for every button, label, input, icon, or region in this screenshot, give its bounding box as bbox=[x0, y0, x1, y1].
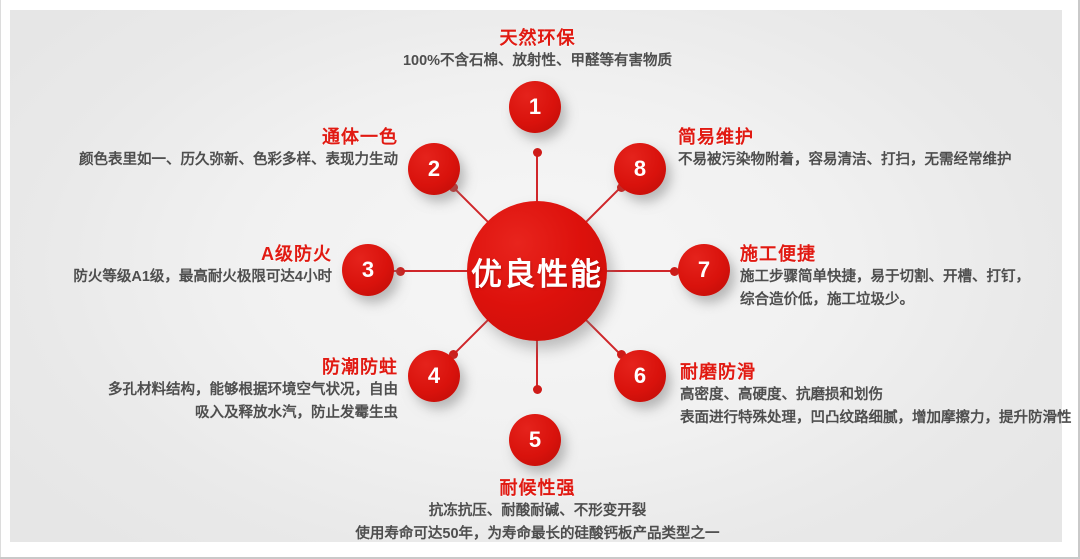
number-bubble-2[interactable]: 2 bbox=[408, 143, 460, 195]
feature-5-line-2: 使用寿命可达50年，为寿命最长的硅酸钙板产品类型之一 bbox=[275, 523, 800, 546]
feature-1-line-1: 100%不含石棉、放射性、甲醛等有害物质 bbox=[290, 50, 785, 73]
number-bubble-3-value: 3 bbox=[362, 257, 374, 283]
number-bubble-5[interactable]: 5 bbox=[509, 414, 561, 466]
feature-7-line-1: 施工步骤简单快捷，易于切割、开槽、打钉， bbox=[740, 266, 1080, 289]
feature-2-title: 通体一色 bbox=[30, 125, 398, 149]
feature-block-3: A级防火 防火等级A1级，最高耐火极限可达4小时 bbox=[20, 242, 332, 289]
spoke-dot-3 bbox=[396, 267, 405, 276]
feature-block-4: 防潮防蛀 多孔材料结构，能够根据环境空气状况，自由 吸入及释放水汽，防止发霉生虫 bbox=[40, 355, 398, 425]
number-bubble-5-value: 5 bbox=[529, 427, 541, 453]
number-bubble-7-value: 7 bbox=[698, 257, 710, 283]
feature-8-line-1: 不易被污染物附着，容易清洁、打扫，无需经常维护 bbox=[678, 149, 1078, 172]
center-hub-label: 优良性能 bbox=[471, 249, 603, 294]
infographic-panel: 优良性能 1 2 3 4 5 6 7 8 天然环保 100%不含石棉、放射性 bbox=[10, 10, 1062, 542]
feature-3-line-1: 防火等级A1级，最高耐火极限可达4小时 bbox=[20, 266, 332, 289]
feature-7-title: 施工便捷 bbox=[740, 242, 1080, 266]
feature-6-title: 耐磨防滑 bbox=[680, 360, 1080, 384]
feature-8-title: 简易维护 bbox=[678, 125, 1078, 149]
feature-block-6: 耐磨防滑 高密度、高硬度、抗磨损和划伤 表面进行特殊处理，凹凸纹路细腻，增加摩擦… bbox=[680, 360, 1080, 430]
number-bubble-8[interactable]: 8 bbox=[614, 143, 666, 195]
number-bubble-4-value: 4 bbox=[428, 363, 440, 389]
number-bubble-3[interactable]: 3 bbox=[342, 244, 394, 296]
feature-6-line-1: 高密度、高硬度、抗磨损和划伤 bbox=[680, 384, 1080, 407]
number-bubble-1-value: 1 bbox=[529, 94, 541, 120]
number-bubble-8-value: 8 bbox=[634, 156, 646, 182]
feature-block-2: 通体一色 颜色表里如一、历久弥新、色彩多样、表现力生动 bbox=[30, 125, 398, 172]
feature-block-1: 天然环保 100%不含石棉、放射性、甲醛等有害物质 bbox=[290, 26, 785, 73]
feature-block-8: 简易维护 不易被污染物附着，容易清洁、打扫，无需经常维护 bbox=[678, 125, 1078, 172]
number-bubble-2-value: 2 bbox=[428, 156, 440, 182]
spoke-dot-5 bbox=[533, 385, 542, 394]
feature-5-line-1: 抗冻抗压、耐酸耐碱、不形变开裂 bbox=[275, 500, 800, 523]
feature-4-line-1: 多孔材料结构，能够根据环境空气状况，自由 bbox=[40, 379, 398, 402]
feature-4-title: 防潮防蛀 bbox=[40, 355, 398, 379]
number-bubble-6[interactable]: 6 bbox=[614, 350, 666, 402]
feature-3-title: A级防火 bbox=[20, 242, 332, 266]
feature-6-line-2: 表面进行特殊处理，凹凸纹路细腻，增加摩擦力，提升防滑性 bbox=[680, 407, 1080, 430]
number-bubble-1[interactable]: 1 bbox=[509, 81, 561, 133]
feature-2-line-1: 颜色表里如一、历久弥新、色彩多样、表现力生动 bbox=[30, 149, 398, 172]
center-hub: 优良性能 bbox=[467, 201, 607, 341]
number-bubble-4[interactable]: 4 bbox=[408, 350, 460, 402]
page-edge-left bbox=[0, 0, 1, 559]
feature-block-7: 施工便捷 施工步骤简单快捷，易于切割、开槽、打钉， 综合造价低，施工垃圾少。 bbox=[740, 242, 1080, 312]
feature-5-title: 耐候性强 bbox=[275, 476, 800, 500]
feature-block-5: 耐候性强 抗冻抗压、耐酸耐碱、不形变开裂 使用寿命可达50年，为寿命最长的硅酸钙… bbox=[275, 476, 800, 546]
feature-7-line-2: 综合造价低，施工垃圾少。 bbox=[740, 289, 1080, 312]
feature-4-line-2: 吸入及释放水汽，防止发霉生虫 bbox=[40, 402, 398, 425]
number-bubble-6-value: 6 bbox=[634, 363, 646, 389]
spoke-dot-1 bbox=[533, 148, 542, 157]
infographic-canvas: 优良性能 1 2 3 4 5 6 7 8 天然环保 100%不含石棉、放射性 bbox=[0, 0, 1080, 559]
number-bubble-7[interactable]: 7 bbox=[678, 244, 730, 296]
feature-1-title: 天然环保 bbox=[290, 26, 785, 50]
